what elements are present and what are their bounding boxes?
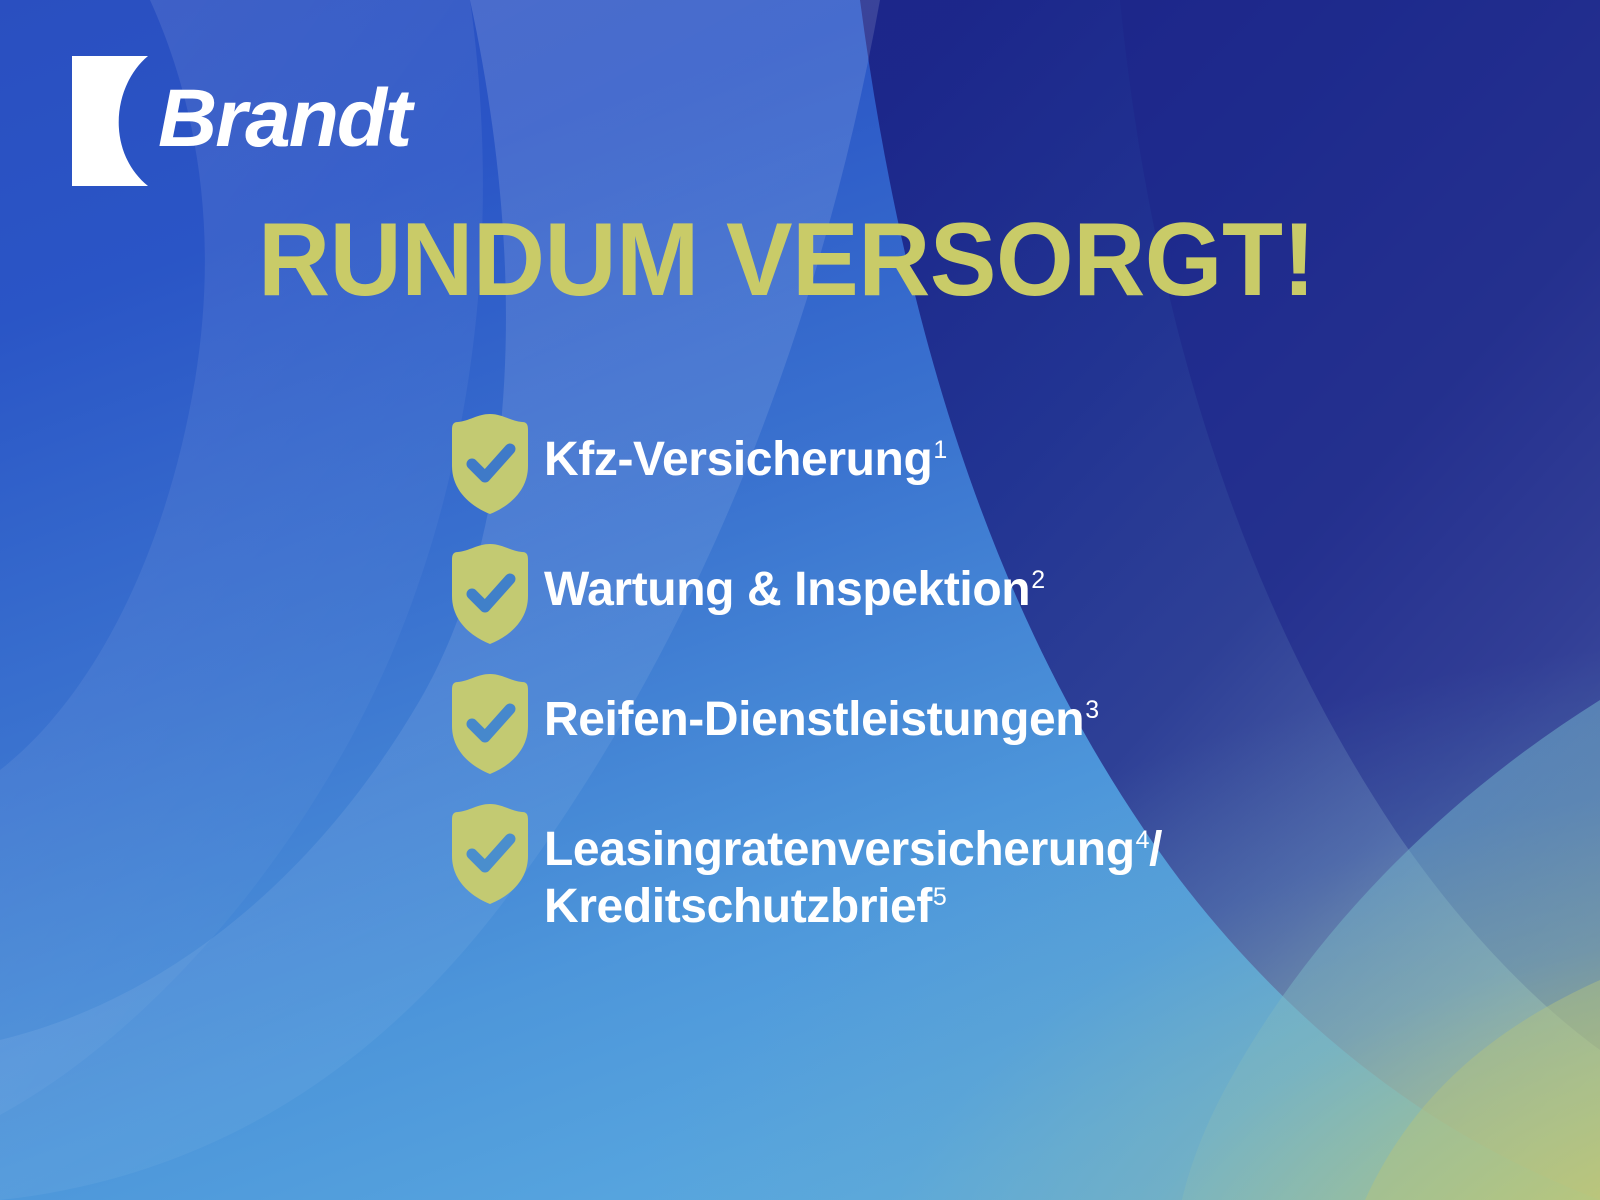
list-item: Wartung & Inspektion2 [450, 542, 1510, 646]
list-item-text: Wartung & Inspektion [544, 563, 1030, 616]
list-item-text: Kfz-Versicherung [544, 433, 932, 486]
list-item-label: Reifen-Dienstleistungen3 [544, 672, 1099, 749]
page-title: RUNDUM VERSORGT! [258, 208, 1315, 312]
footnote-marker: 2 [1031, 566, 1044, 594]
shield-check-icon [450, 542, 530, 646]
footnote-marker: 1 [933, 436, 946, 464]
footnote-marker: 4 [1136, 826, 1149, 854]
bracket-crescent-icon [72, 56, 148, 186]
brand-logo: Brandt [72, 56, 410, 186]
footnote-marker: 3 [1085, 696, 1098, 724]
list-item-text: Leasingratenversicherung [544, 823, 1135, 876]
shield-check-icon [450, 802, 530, 906]
footnote-marker: 5 [933, 883, 946, 911]
list-item: Reifen-Dienstleistungen3 [450, 672, 1510, 776]
shield-check-icon [450, 412, 530, 516]
list-item: Kfz-Versicherung1 [450, 412, 1510, 516]
list-item-text: Kreditschutzbrief [544, 880, 932, 933]
list-item-label: Leasingratenversicherung4/Kreditschutzbr… [544, 802, 1162, 935]
separator-slash: / [1149, 823, 1162, 876]
brand-wordmark: Brandt [158, 78, 410, 160]
list-item-label: Wartung & Inspektion2 [544, 542, 1045, 619]
list-item-label: Kfz-Versicherung1 [544, 412, 947, 489]
poster-canvas: Brandt RUNDUM VERSORGT! Kfz-Versicherung… [0, 0, 1600, 1200]
list-item-text: Reifen-Dienstleistungen [544, 693, 1084, 746]
shield-check-icon [450, 672, 530, 776]
feature-list: Kfz-Versicherung1 Wartung & Inspektion2 [450, 412, 1510, 935]
list-item: Leasingratenversicherung4/Kreditschutzbr… [450, 802, 1510, 935]
